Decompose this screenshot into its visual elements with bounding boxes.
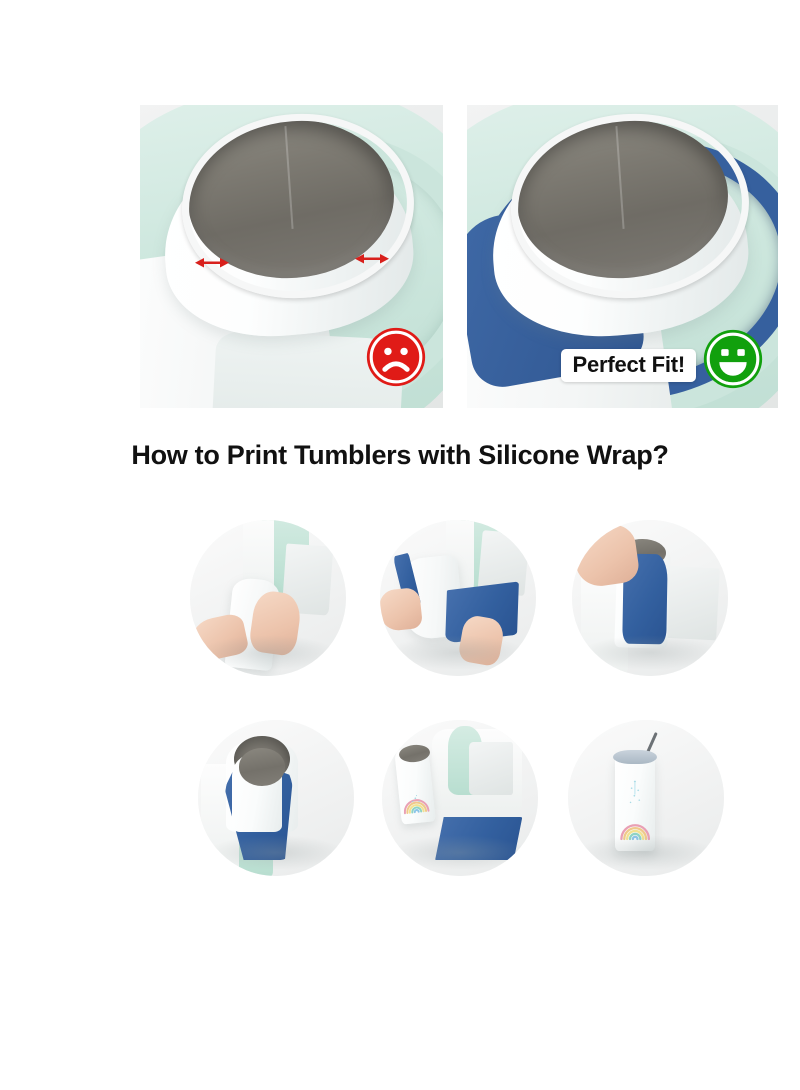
loose-wrap-scene — [140, 105, 443, 408]
perfect-fit-label: Perfect Fit! — [561, 349, 696, 382]
comparison-row: Perfect Fit! — [140, 105, 778, 408]
step-photo-5 — [382, 720, 538, 876]
step-scene — [568, 720, 724, 876]
hand-left — [380, 587, 423, 632]
step-shadow — [581, 635, 718, 669]
happy-face-icon — [702, 328, 764, 390]
step-scene — [572, 520, 728, 676]
gap-arrow-left-icon — [195, 257, 229, 269]
step-scene — [382, 720, 538, 876]
sad-face-icon — [365, 326, 427, 388]
step-photo-1 — [190, 520, 346, 676]
page-title: How to Print Tumblers with Silicone Wrap… — [0, 440, 800, 471]
tumbler-mouth-inner — [239, 748, 286, 785]
steps-gallery — [0, 512, 800, 912]
infographic-page: Perfect Fit! How to Print Tumblers with … — [0, 0, 800, 1090]
step-scene — [380, 520, 536, 676]
gap-arrow-right-icon — [355, 253, 389, 265]
step-shadow — [207, 835, 344, 869]
steps-row-2 — [0, 712, 800, 912]
step-photo-6 — [568, 720, 724, 876]
step-photo-2 — [380, 520, 536, 676]
perfect-fit-scene: Perfect Fit! — [467, 105, 778, 408]
step-shadow — [199, 635, 336, 669]
rainbow-print-icon — [399, 784, 432, 821]
step-shadow — [389, 635, 526, 669]
steps-row-1 — [0, 512, 800, 712]
tumbler-lid — [613, 750, 657, 764]
press-grey-panel — [469, 742, 513, 795]
step-scene — [190, 520, 346, 676]
hand-placing — [572, 522, 641, 589]
step-photo-4 — [198, 720, 354, 876]
step-shadow — [391, 835, 528, 869]
loose-wrap-photo — [140, 105, 443, 408]
step-shadow — [577, 835, 714, 869]
step-photo-3 — [572, 520, 728, 676]
step-scene — [198, 720, 354, 876]
confetti-print-icon — [624, 776, 646, 813]
perfect-fit-photo: Perfect Fit! — [467, 105, 778, 408]
